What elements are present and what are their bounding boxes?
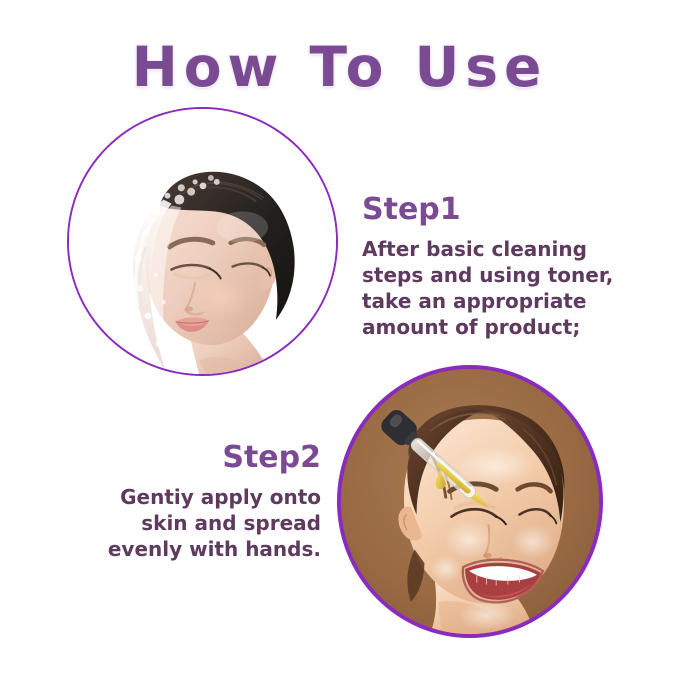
step2-body-line: evenly with hands. [78, 536, 321, 562]
woman-washing-face-with-water-image [69, 109, 336, 374]
step1-heading: Step1 [362, 192, 612, 228]
how-to-use-infographic: How To Use [0, 0, 679, 679]
step1-photo-circle [67, 107, 338, 376]
step2-photo-circle [337, 365, 603, 638]
step2-body-line: skin and spread [78, 510, 321, 536]
woman-applying-serum-dropper-image [341, 369, 599, 634]
step1-body-line: steps and using toner, [362, 262, 612, 288]
step1-text-block: Step1 After basic cleaning steps and usi… [362, 192, 612, 340]
step2-body: Gentiy apply onto skin and spread evenly… [78, 484, 321, 562]
step1-body-line: amount of product; [362, 314, 612, 340]
step2-text-block: Step2 Gentiy apply onto skin and spread … [78, 440, 321, 562]
step2-body-line: Gentiy apply onto [78, 484, 321, 510]
step1-body-line: take an appropriate [362, 288, 612, 314]
step2-heading: Step2 [78, 440, 321, 476]
step1-body: After basic cleaning steps and using ton… [362, 236, 612, 340]
step1-body-line: After basic cleaning [362, 236, 612, 262]
page-title: How To Use [0, 36, 679, 98]
